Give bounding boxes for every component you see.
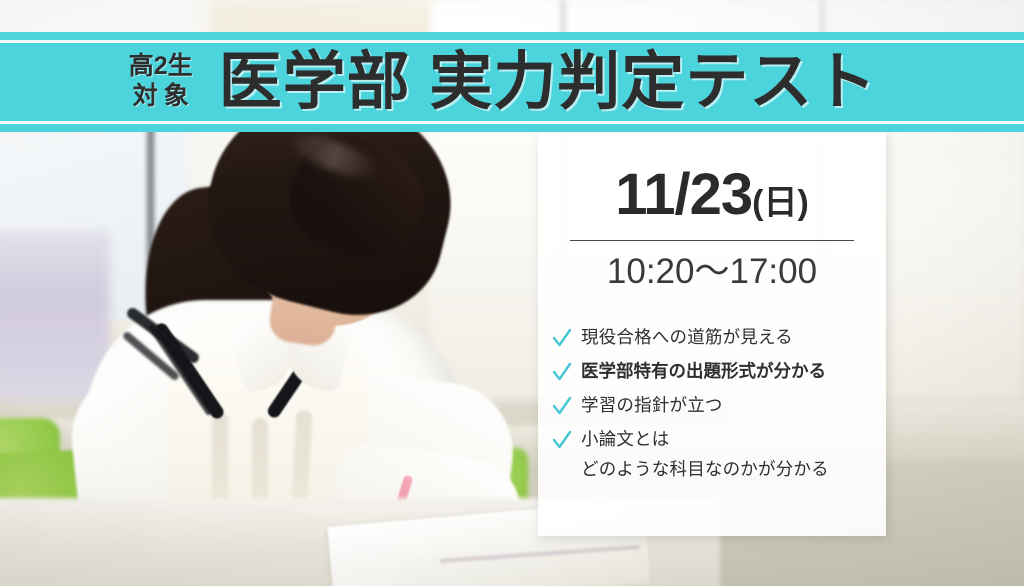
event-title: 医学部 実力判定テスト [219, 51, 878, 114]
check-icon [552, 395, 572, 417]
benefit-text: 現役合格への道筋が見える [581, 326, 793, 348]
banner-rule-top [0, 40, 1024, 43]
target-audience-line1: 高2生 [129, 51, 193, 82]
event-time: 10:20〜17:00 [570, 253, 854, 292]
benefit-text: 医学部特有の出題形式が分かる [581, 360, 826, 382]
promotional-poster: 高2生 対象 医学部 実力判定テスト 11/23(日) 10:20〜17:00 … [0, 0, 1024, 586]
target-audience-line2: 対象 [127, 81, 195, 112]
event-date: 11/23(日) [570, 166, 854, 224]
list-item: 現役合格への道筋が見える [552, 326, 868, 349]
event-day-of-week: (日) [752, 184, 809, 222]
banner-rule-bottom [0, 121, 1024, 124]
list-item: 学習の指針が立つ [552, 394, 868, 417]
check-icon [552, 327, 572, 349]
check-icon [552, 361, 572, 383]
benefit-text: 小論文とは [581, 428, 670, 450]
event-info-panel: 11/23(日) 10:20〜17:00 現役合格への道筋が見える 医学部特有の… [538, 132, 886, 536]
check-icon [552, 429, 572, 451]
list-item: 小論文とは どのような科目なのかが分かる [552, 428, 868, 480]
target-audience-label: 高2生 対象 [127, 51, 195, 114]
date-block: 11/23(日) 10:20〜17:00 [538, 132, 886, 292]
benefit-primary-row: 小論文とは [552, 428, 868, 451]
list-item: 医学部特有の出題形式が分かる [552, 360, 868, 383]
date-divider [570, 240, 854, 241]
benefits-list: 現役合格への道筋が見える 医学部特有の出題形式が分かる 学習の指針が立つ [538, 326, 886, 480]
banner-content: 高2生 対象 医学部 実力判定テスト [127, 51, 878, 114]
event-date-number: 11/23 [615, 162, 752, 227]
benefit-text: 学習の指針が立つ [581, 394, 723, 416]
benefit-subline: どのような科目なのかが分かる [581, 458, 868, 480]
header-banner: 高2生 対象 医学部 実力判定テスト [0, 32, 1024, 132]
